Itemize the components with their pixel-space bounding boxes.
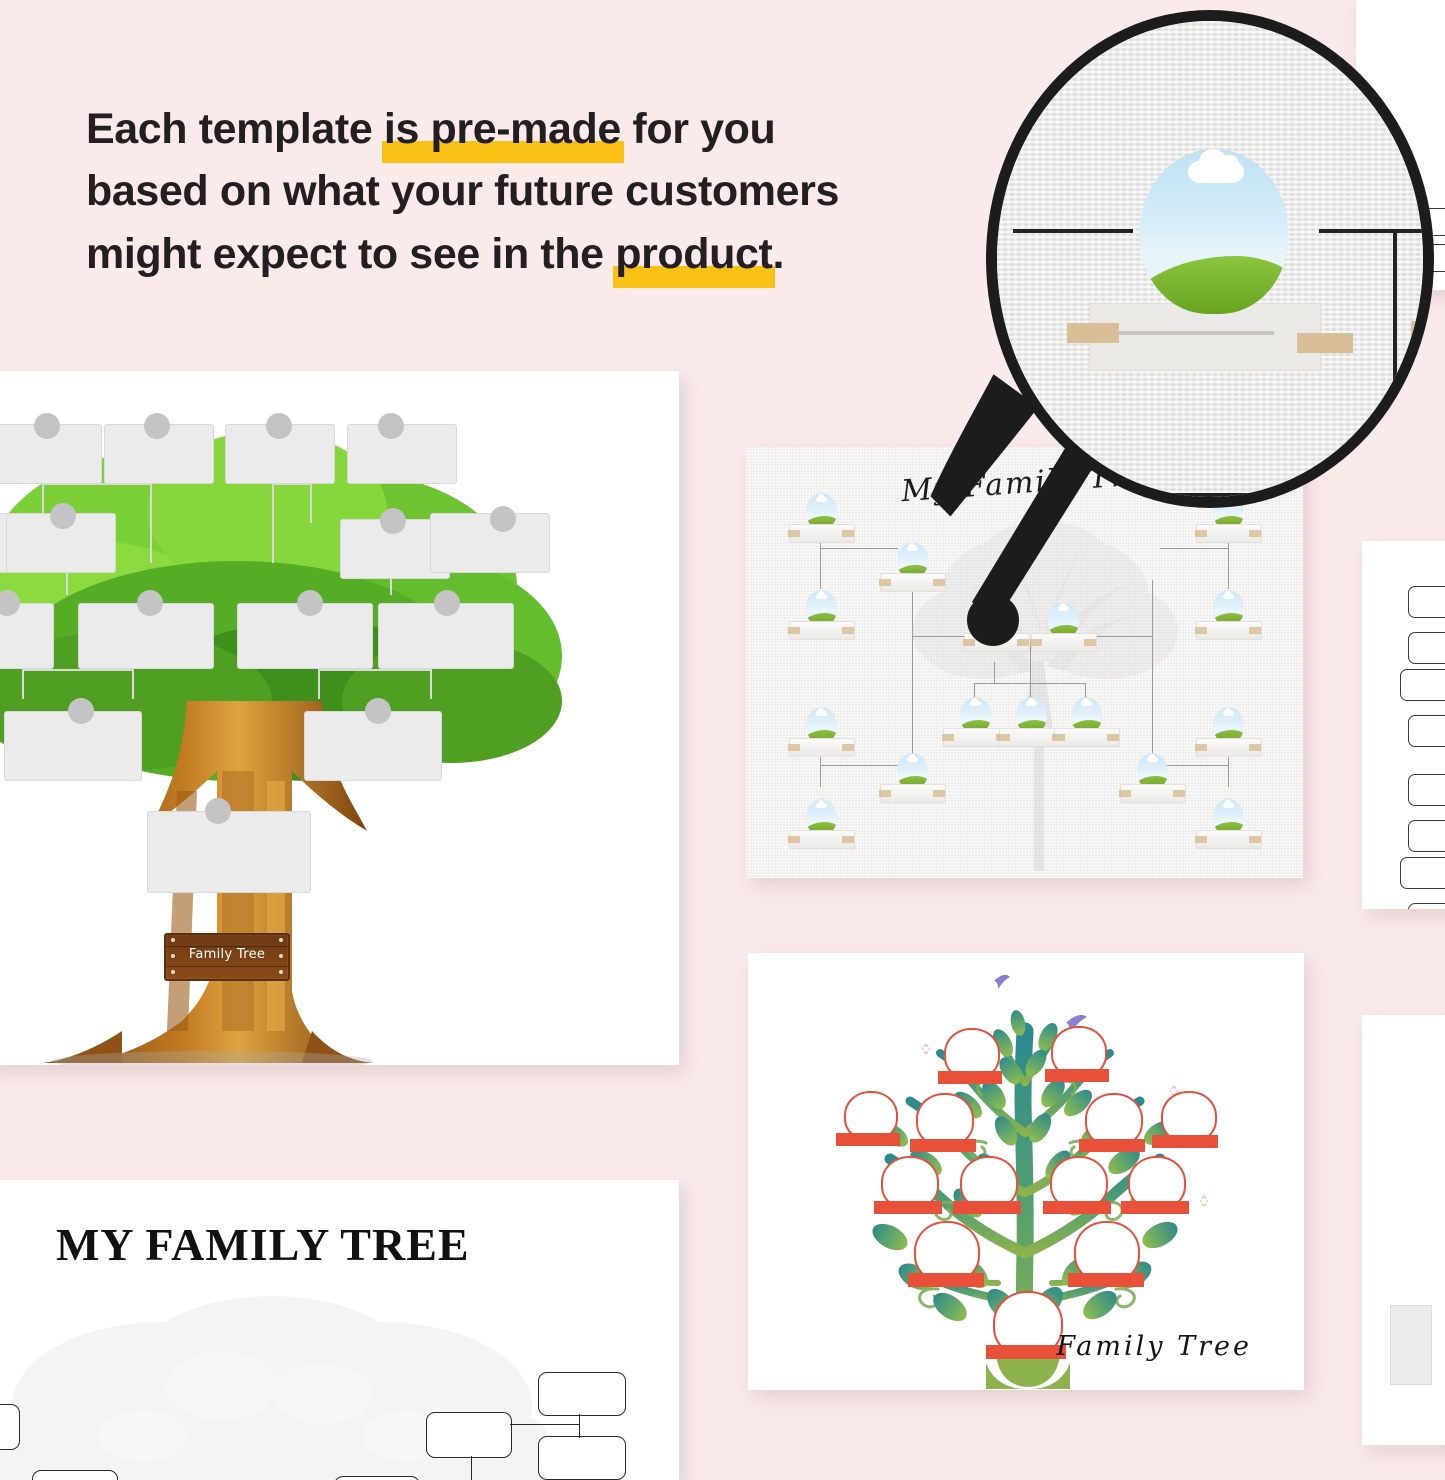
- tape-icon: [788, 627, 800, 634]
- chart-box[interactable]: [0, 1404, 20, 1450]
- family-node[interactable]: [880, 753, 944, 809]
- tape-icon: [1119, 790, 1131, 797]
- zoomed-connector: [1013, 229, 1133, 233]
- tape-icon: [788, 530, 800, 537]
- cloud-icon: [816, 594, 827, 599]
- chart-box[interactable]: [426, 1412, 512, 1458]
- tape-icon: [963, 639, 975, 646]
- tape-icon: [1107, 734, 1119, 741]
- headline-line1-suffix: for you: [621, 105, 775, 153]
- connector: [310, 483, 312, 523]
- zoomed-connector: [1319, 229, 1434, 233]
- connector: [510, 1424, 580, 1425]
- connector: [132, 669, 134, 699]
- color-card-title: Family Tree: [1056, 1331, 1252, 1362]
- name-banner[interactable]: [1045, 1069, 1109, 1082]
- family-node-child[interactable]: [943, 697, 1007, 753]
- tape-icon: [933, 579, 945, 586]
- name-banner[interactable]: [953, 1201, 1021, 1214]
- tape-icon: [942, 734, 954, 741]
- tape-icon: [998, 734, 1010, 741]
- cloud-icon: [970, 701, 981, 706]
- tape-icon: [1067, 323, 1119, 343]
- name-banner[interactable]: [874, 1201, 942, 1214]
- name-banner[interactable]: [910, 1139, 976, 1152]
- headline-line2: based on what your future customers: [86, 167, 839, 215]
- connector: [471, 1456, 472, 1480]
- connector: [150, 483, 152, 563]
- family-tree-wooden-sign: Family Tree: [164, 933, 290, 981]
- tape-icon: [788, 744, 800, 751]
- poster-canvas: Each template is pre-made for you based …: [0, 0, 1445, 1445]
- photo-dot[interactable]: [266, 413, 292, 439]
- photo-dot[interactable]: [297, 590, 323, 616]
- bottom-left-card-title: MY FAMILY TREE: [56, 1218, 470, 1271]
- chart-box[interactable]: [1408, 774, 1445, 806]
- name-banner[interactable]: [1079, 1139, 1145, 1152]
- tape-icon: [1195, 744, 1207, 751]
- cloud-icon: [907, 546, 918, 551]
- connector: [272, 483, 274, 563]
- name-banner-root[interactable]: [986, 1345, 1066, 1359]
- connector: [579, 1414, 580, 1438]
- cloud-icon: [1188, 161, 1244, 183]
- name-box[interactable]: [1390, 1305, 1432, 1385]
- tape-icon: [1173, 790, 1185, 797]
- family-tree-sign-label: Family Tree: [166, 947, 288, 962]
- magnifier-lens: [986, 10, 1434, 508]
- cloud-icon: [1223, 803, 1234, 808]
- photo-dot[interactable]: [434, 590, 460, 616]
- chart-box[interactable]: [1408, 820, 1445, 852]
- chart-box[interactable]: [334, 1476, 420, 1480]
- tape-icon: [842, 744, 854, 751]
- name-banner[interactable]: [1043, 1201, 1111, 1214]
- chart-box[interactable]: [538, 1372, 626, 1416]
- tape-icon: [1297, 333, 1353, 353]
- name-banner[interactable]: [836, 1133, 900, 1146]
- tape-icon: [1249, 836, 1261, 843]
- headline-highlight-pre-made: is pre-made: [384, 98, 621, 160]
- photo-dot[interactable]: [205, 798, 231, 824]
- zoomed-connector: [1127, 493, 1427, 497]
- chart-box[interactable]: [1400, 669, 1445, 701]
- headline-highlight-product: product: [615, 223, 772, 285]
- zoomed-photo-placeholder: [1140, 149, 1288, 314]
- tape-icon: [842, 836, 854, 843]
- tape-icon: [842, 627, 854, 634]
- headline-line1-prefix: Each template: [86, 105, 384, 153]
- tape-icon: [879, 579, 891, 586]
- chart-box[interactable]: [538, 1436, 626, 1480]
- chart-box[interactable]: [1408, 903, 1445, 909]
- name-banner[interactable]: [1068, 1273, 1144, 1287]
- cloud-icon: [1026, 701, 1037, 706]
- family-node-child[interactable]: [1054, 697, 1118, 753]
- family-node[interactable]: [789, 590, 853, 646]
- name-box[interactable]: [347, 424, 457, 484]
- cloud-icon: [907, 757, 918, 762]
- cartoon-tree-template-card[interactable]: Family Tree: [0, 371, 679, 1065]
- name-banner[interactable]: [908, 1273, 984, 1287]
- my-family-tree-chart-card[interactable]: MY FAMILY TREE: [0, 1180, 679, 1480]
- name-banner[interactable]: [1152, 1135, 1218, 1148]
- family-node[interactable]: [789, 493, 853, 549]
- tape-icon: [933, 790, 945, 797]
- family-node[interactable]: [1120, 753, 1184, 809]
- photo-dot[interactable]: [378, 413, 404, 439]
- photo-dot[interactable]: [380, 508, 406, 534]
- root-name-box[interactable]: [147, 811, 311, 893]
- photo-dot[interactable]: [365, 698, 391, 724]
- family-node[interactable]: [789, 707, 853, 763]
- chart-box[interactable]: [32, 1470, 118, 1480]
- name-banner[interactable]: [938, 1071, 1002, 1084]
- zoomed-connector: [1393, 229, 1397, 447]
- cloud-icon: [1223, 711, 1234, 716]
- cloud-icon: [816, 711, 827, 716]
- cloud-icon: [816, 497, 827, 502]
- family-node[interactable]: [1196, 799, 1260, 855]
- photo-dot[interactable]: [34, 413, 60, 439]
- photo-dot[interactable]: [50, 503, 76, 529]
- connector: [318, 669, 430, 671]
- family-node[interactable]: [789, 799, 853, 855]
- photo-dot[interactable]: [144, 413, 170, 439]
- tape-icon: [879, 790, 891, 797]
- cloud-icon: [1147, 757, 1158, 762]
- family-node[interactable]: [880, 542, 944, 598]
- page-title: Each template is pre-made for you based …: [86, 98, 916, 285]
- pointer-dot: [967, 594, 1019, 646]
- connector: [318, 669, 320, 699]
- chart-box[interactable]: [1400, 857, 1445, 889]
- magnifier-zoom-circle: [986, 10, 1434, 508]
- connector: [22, 669, 132, 671]
- chart-box[interactable]: [1408, 715, 1445, 747]
- bird-icon: [994, 975, 1010, 989]
- cloud-icon: [816, 803, 827, 808]
- connector: [430, 669, 432, 699]
- tape-icon: [1249, 744, 1261, 751]
- photo-dot[interactable]: [68, 698, 94, 724]
- tape-icon: [1053, 734, 1065, 741]
- cloud-icon: [1081, 701, 1092, 706]
- connector: [22, 669, 24, 699]
- tape-icon: [842, 530, 854, 537]
- tape-icon: [1195, 836, 1207, 843]
- headline-line3-prefix: might expect to see in the: [86, 230, 615, 278]
- photo-dot[interactable]: [490, 506, 516, 532]
- partial-template-card[interactable]: [1362, 1015, 1445, 1445]
- tape-icon: [788, 836, 800, 843]
- connector: [994, 662, 995, 684]
- name-banner[interactable]: [1121, 1201, 1189, 1214]
- family-node[interactable]: [1196, 707, 1260, 763]
- cartoon-tree-artwork: Family Tree: [0, 371, 679, 1065]
- decorative-family-tree-card[interactable]: Family Tree: [748, 953, 1304, 1390]
- photo-dot[interactable]: [137, 590, 163, 616]
